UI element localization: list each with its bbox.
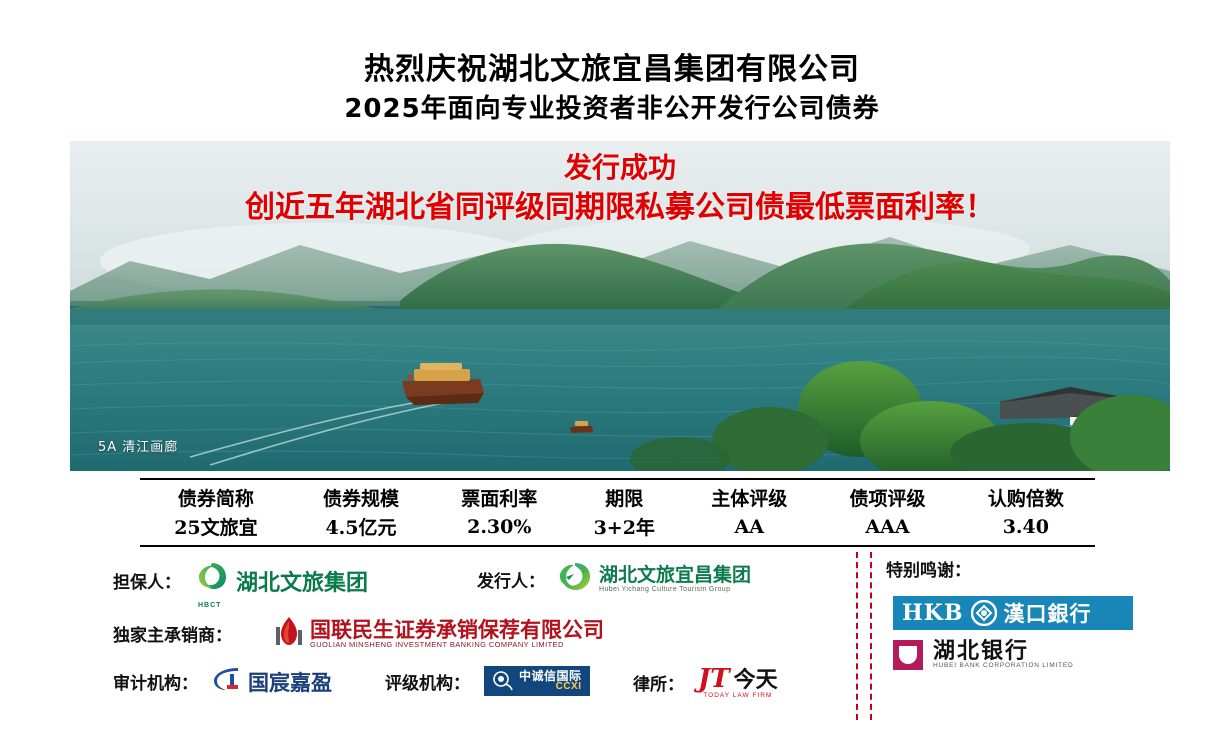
scenery-photo: 发行成功 创近五年湖北省同评级同期限私募公司债最低票面利率！ 5A 清江画廊 [70, 141, 1170, 471]
hbct-abbr: HBCT [198, 602, 221, 609]
hubei-bank-name: 湖北银行 [933, 640, 1074, 663]
hankou-bank-name: 漢口銀行 [1004, 598, 1092, 628]
table-header-cell: 债券简称 [140, 479, 292, 512]
auditor-label: 审计机构： [113, 669, 198, 694]
photo-caption: 5A 清江画廊 [98, 436, 178, 455]
red-flame-icon [274, 616, 304, 646]
table-cell: 3+2年 [568, 512, 680, 546]
auditor-name: 国宸嘉盈 [248, 667, 332, 697]
underwriter-name-en: GUOLIAN MINSHENG INVESTMENT BANKING COMP… [310, 641, 604, 649]
issuer-label: 发行人： [477, 567, 545, 592]
table-header-cell: 债券规模 [292, 479, 430, 512]
table-header-cell: 债项评级 [818, 479, 956, 512]
green-swirl-icon [195, 561, 229, 595]
law-firm-label: 律所： [633, 670, 684, 695]
bond-issuance-poster: 热烈庆祝湖北文旅宜昌集团有限公司 2025年面向专业投资者非公开发行公司债券 [0, 0, 1224, 736]
table-cell: 2.30% [430, 512, 568, 546]
law-firm-name-en: TODAY LAW FIRM [698, 693, 778, 700]
table-header-cell: 认购倍数 [957, 479, 1095, 512]
today-law-logo: JT 今天 TODAY LAW FIRM [698, 666, 778, 700]
hankou-bank-abbr: HKB [902, 600, 964, 626]
table-cell: 25文旅宜 [140, 512, 292, 546]
issuer-logo-icon [557, 561, 593, 598]
guochen-logo-icon [212, 666, 242, 697]
bond-summary-table: 债券简称 债券规模 票面利率 期限 主体评级 债项评级 认购倍数 25文旅宜 4… [140, 478, 1095, 547]
table-header-row: 债券简称 债券规模 票面利率 期限 主体评级 债项评级 认购倍数 [140, 479, 1095, 512]
overlay-line-1: 发行成功 [70, 149, 1170, 187]
underwriter-label: 独家主承销商： [113, 621, 232, 646]
hankou-bank-logo: HKB 漢口銀行 [893, 596, 1133, 630]
table-cell: 3.40 [957, 512, 1095, 546]
overlay-line-2: 创近五年湖北省同评级同期限私募公司债最低票面利率！ [70, 187, 1170, 229]
table-header-cell: 票面利率 [430, 479, 568, 512]
underwriter-name: 国联民生证券承销保荐有限公司 [310, 619, 604, 641]
ccxi-logo: 中诚信国际 CCXI [484, 666, 590, 696]
hankou-bank-mark-icon [971, 600, 997, 626]
vertical-dashed-divider-right [870, 552, 874, 720]
underwriter-row: 独家主承销商： 国联民生证券承销保荐有限公司 GUOLIAN MINSHENG … [113, 616, 604, 651]
law-firm-mark: JT [698, 666, 730, 692]
issuer-name: 湖北文旅宜昌集团 [599, 566, 751, 586]
table-cell: AA [680, 512, 818, 546]
rating-agency-row: 评级机构： 中诚信国际 CCXI [385, 666, 590, 696]
auditor-row: 审计机构： 国宸嘉盈 [113, 666, 332, 697]
guarantor-name: 湖北文旅集团 [236, 565, 368, 597]
issuer-row: 发行人： 湖北文旅宜昌集团 Hubei Yichang Culture Tour… [477, 561, 751, 598]
hubei-bank-name-en: HUBEI BANK CORPORATION LIMITED [933, 663, 1074, 670]
title-line-2: 2025年面向专业投资者非公开发行公司债券 [0, 90, 1224, 128]
guarantor-label: 担保人： [113, 568, 181, 593]
hubei-bank-logo: 湖北银行 HUBEI BANK CORPORATION LIMITED [893, 640, 1074, 670]
rating-agency-abbr: CCXI [519, 682, 582, 692]
issuer-name-en: Hubei Yichang Culture Tourism Group [599, 586, 751, 593]
table-header-cell: 期限 [568, 479, 680, 512]
hbct-logo-icon: HBCT [195, 561, 229, 600]
table-cell: AAA [818, 512, 956, 546]
special-thanks-label: 特别鸣谢： [886, 556, 971, 581]
table-header-cell: 主体评级 [680, 479, 818, 512]
green-bird-swirl-icon [557, 561, 593, 593]
guolian-logo-icon [274, 616, 304, 651]
ccxi-mark-icon [492, 671, 514, 691]
guarantor-row: 担保人： HBCT 湖北文旅集团 [113, 561, 368, 600]
blue-red-swoosh-icon [212, 666, 242, 692]
hubei-bank-mark-icon [893, 640, 923, 670]
rating-agency-label: 评级机构： [385, 669, 470, 694]
success-overlay-text: 发行成功 创近五年湖北省同评级同期限私募公司债最低票面利率！ [70, 149, 1170, 229]
vertical-dashed-divider-left [856, 552, 860, 720]
table-cell: 4.5亿元 [292, 512, 430, 546]
law-firm-row: 律所： JT 今天 TODAY LAW FIRM [633, 666, 778, 700]
law-firm-name: 今天 [734, 670, 778, 692]
title-line-1: 热烈庆祝湖北文旅宜昌集团有限公司 [0, 50, 1224, 90]
poster-title: 热烈庆祝湖北文旅宜昌集团有限公司 2025年面向专业投资者非公开发行公司债券 [0, 50, 1224, 128]
table-row: 25文旅宜 4.5亿元 2.30% 3+2年 AA AAA 3.40 [140, 512, 1095, 546]
